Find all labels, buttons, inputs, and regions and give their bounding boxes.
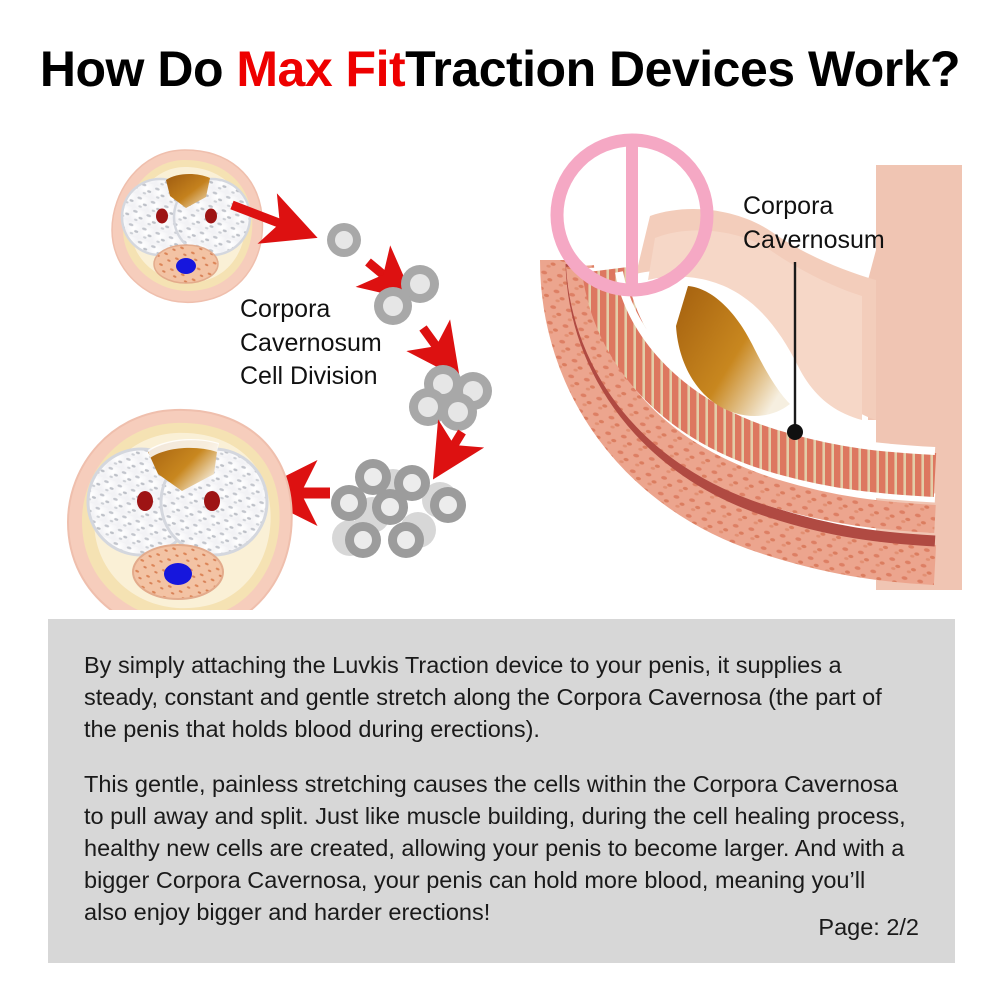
paragraph-2: This gentle, painless stretching causes … <box>84 768 911 929</box>
description-panel: By simply attaching the Luvkis Traction … <box>48 619 955 963</box>
page-title: How Do Max FitTraction Devices Work? <box>0 44 1000 94</box>
title-brand: Max Fit <box>236 41 405 97</box>
cell-stage-1 <box>327 223 361 257</box>
title-suffix: Traction Devices Work? <box>405 41 960 97</box>
cell-stage-4 <box>331 459 466 558</box>
page-number: Page: 2/2 <box>818 914 919 941</box>
infographic-page: How Do Max FitTraction Devices Work? <box>0 0 1000 1000</box>
label-corpora-cavernosum: Corpora Cavernosum <box>743 190 973 257</box>
title-prefix: How Do <box>40 41 236 97</box>
cross-section-large <box>68 410 292 610</box>
arrow-division-3 <box>440 432 462 468</box>
paragraph-1: By simply attaching the Luvkis Traction … <box>84 649 911 746</box>
cross-section-small <box>112 150 262 302</box>
arrow-division-1 <box>368 262 404 292</box>
label-cell-division: Corpora Cavernosum Cell Division <box>240 293 490 394</box>
